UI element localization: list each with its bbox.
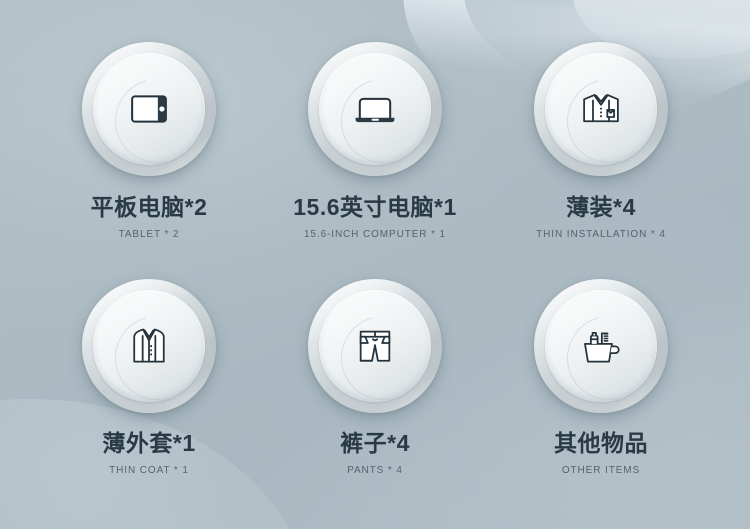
item-badge [534, 279, 668, 413]
item-label-en: 15.6-INCH COMPUTER * 1 [304, 229, 446, 240]
item-label-en: THIN COAT * 1 [109, 465, 189, 476]
item-badge [82, 42, 216, 176]
item-card-coat[interactable]: 薄外套*1 THIN COAT * 1 [36, 279, 262, 516]
item-badge [534, 42, 668, 176]
tablet-icon [121, 81, 177, 137]
coat-icon [121, 318, 177, 374]
item-label-en: PANTS * 4 [347, 465, 403, 476]
item-card-other[interactable]: 其他物品 OTHER ITEMS [488, 279, 714, 516]
item-card-laptop[interactable]: 15.6英寸电脑*1 15.6-INCH COMPUTER * 1 [262, 42, 488, 279]
badge-face [93, 53, 205, 165]
folded-shirt-icon [573, 81, 629, 137]
item-label-cn: 裤子*4 [340, 431, 410, 456]
item-card-shirt[interactable]: 薄装*4 THIN INSTALLATION * 4 [488, 42, 714, 279]
item-label-cn: 薄装*4 [566, 195, 636, 220]
badge-face [319, 290, 431, 402]
item-label-en: OTHER ITEMS [562, 465, 640, 476]
badge-face [545, 53, 657, 165]
item-card-tablet[interactable]: 平板电脑*2 TABLET * 2 [36, 42, 262, 279]
item-label-cn: 其他物品 [554, 431, 648, 456]
toiletries-cup-icon [573, 318, 629, 374]
pants-icon [347, 318, 403, 374]
laptop-icon [347, 81, 403, 137]
item-label-cn: 15.6英寸电脑*1 [293, 195, 457, 220]
item-card-pants[interactable]: 裤子*4 PANTS * 4 [262, 279, 488, 516]
badge-face [545, 290, 657, 402]
item-label-cn: 平板电脑*2 [91, 195, 208, 220]
item-grid: 平板电脑*2 TABLET * 2 15.6英寸电脑* [0, 0, 750, 529]
badge-face [93, 290, 205, 402]
item-badge [82, 279, 216, 413]
badge-face [319, 53, 431, 165]
item-badge [308, 279, 442, 413]
item-label-en: TABLET * 2 [119, 229, 180, 240]
item-label-en: THIN INSTALLATION * 4 [536, 229, 666, 240]
item-label-cn: 薄外套*1 [102, 431, 195, 456]
packing-checklist-board: 平板电脑*2 TABLET * 2 15.6英寸电脑* [0, 0, 750, 529]
item-badge [308, 42, 442, 176]
